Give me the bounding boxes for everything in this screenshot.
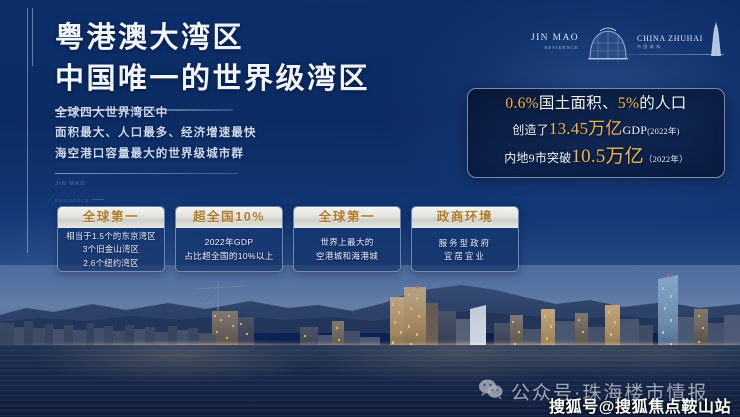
brand-underline [599,54,724,55]
card-1-line-2: 3个旧金山湾区 [83,243,140,255]
poster-canvas: 粤港澳大湾区 中国唯一的世界级湾区 全球四大世界湾区中 面积最大、人口最多、经济… [0,0,740,417]
jinmao-watermark: JIN MAO RESIDENCE [55,181,355,208]
city-night-photo [0,265,740,417]
page-title: 粤港澳大湾区 中国唯一的世界级湾区 [55,18,435,111]
card-gdp-share[interactable]: 超全国10% 2022年GDP 占比超全国的10%以上 [175,206,283,272]
water-reflections [0,345,740,417]
card-global-first-area[interactable]: 全球第一 相当于1.5个的东京湾区 3个旧金山湾区 2.6个纽约湾区 [57,206,165,272]
card-4-line-1: 服务型政府 [439,237,492,249]
card-2-line-1: 2022年GDP [205,236,254,249]
brand-name: JIN MAO [531,33,579,44]
subtitle-line-2: 面积最大、人口最多、经济增速最快 [55,123,355,143]
card-3-line-1: 世界上最大的 [320,236,373,249]
stat-cities-year: （2022年） [644,154,688,164]
subtitle-block: 全球四大世界湾区中 面积最大、人口最多、经济增速最快 海空港口容量最大的世界级城… [55,103,355,208]
stat-pop-value: 5% [618,95,639,112]
stat-cities-prefix: 内地9市突破 [504,151,571,165]
brand-location-cn: 中 国 珠 海 [637,45,703,50]
card-2-line-2: 占比超全国的10%以上 [184,250,273,263]
card-1-body: 相当于1.5个的东京湾区 3个旧金山湾区 2.6个纽约湾区 [58,228,164,271]
jinmao-watermark-line-2: RESIDENCE [55,198,89,203]
card-3-header: 全球第一 [294,207,400,228]
card-global-first-port[interactable]: 全球第一 世界上最大的 空港城和海港城 [293,206,401,272]
brand-location: CHINA ZHUHAI [637,34,703,43]
accent-line-short [32,8,33,66]
card-4-title: 政商环境 [437,211,493,224]
card-3-body: 世界上最大的 空港城和海港城 [294,228,400,271]
brand-location-block: CHINA ZHUHAI 中 国 珠 海 [637,34,703,52]
card-4-header: 政商环境 [412,207,518,228]
title-line-2: 中国唯一的世界级湾区 [55,59,435,100]
jinmao-watermark-dash [92,199,104,200]
brand-tower-icon [708,20,724,65]
title-line-1: 粤港澳大湾区 [55,18,435,59]
card-4-body: 服务型政府 宜居宜业 [412,228,518,271]
brand-dome-icon [586,23,630,63]
stat-gdp-value: 13.45万亿 [549,119,623,138]
subtitle-divider [55,173,238,174]
card-2-body: 2022年GDP 占比超全国的10%以上 [176,228,282,271]
accent-line-long [27,8,28,253]
stat-row-3: 内地9市突破10.5万亿（2022年） [478,142,714,173]
stat-gdp-year: (2022年) [647,126,680,136]
card-1-header: 全球第一 [58,207,164,228]
stat-gdp-label: GDP [623,123,648,137]
stat-land-value: 0.6% [505,95,539,112]
stat-row-2: 创造了13.45万亿GDP(2022年) [478,115,714,143]
key-stats-panel: 0.6%国土面积、5%的人口 创造了13.45万亿GDP(2022年) 内地9市… [467,88,725,178]
stat-cities-value: 10.5万亿 [571,146,643,167]
stat-pop-label: 的人口 [639,95,686,112]
card-3-title: 全球第一 [319,211,375,224]
highlight-cards: 全球第一 相当于1.5个的东京湾区 3个旧金山湾区 2.6个纽约湾区 超全国10… [57,206,519,272]
stat-row-1: 0.6%国土面积、5%的人口 [478,93,714,115]
card-1-line-1: 相当于1.5个的东京湾区 [66,230,156,242]
card-2-title: 超全国10% [193,211,265,224]
card-3-line-2: 空港城和海港城 [316,250,378,263]
brand-subname: RESIDENCE [531,46,579,51]
card-2-header: 超全国10% [176,207,282,228]
subtitle-line-3: 海空港口容量最大的世界级城市群 [55,144,355,164]
card-1-title: 全球第一 [83,211,139,224]
stat-gdp-prefix: 创造了 [512,123,549,137]
brand-name-block: JIN MAO RESIDENCE [531,33,579,53]
card-4-line-2: 宜居宜业 [444,250,486,262]
card-1-line-3: 2.6个纽约湾区 [83,257,138,269]
card-business-environment[interactable]: 政商环境 服务型政府 宜居宜业 [411,206,519,272]
brand-logo: JIN MAO RESIDENCE CHINA ZHUHAI 中 国 珠 海 [531,20,724,65]
jinmao-watermark-line-1: JIN MAO [55,181,355,188]
subtitle-line-1: 全球四大世界湾区中 [55,103,355,123]
stat-land-label: 国土面积、 [539,95,618,112]
